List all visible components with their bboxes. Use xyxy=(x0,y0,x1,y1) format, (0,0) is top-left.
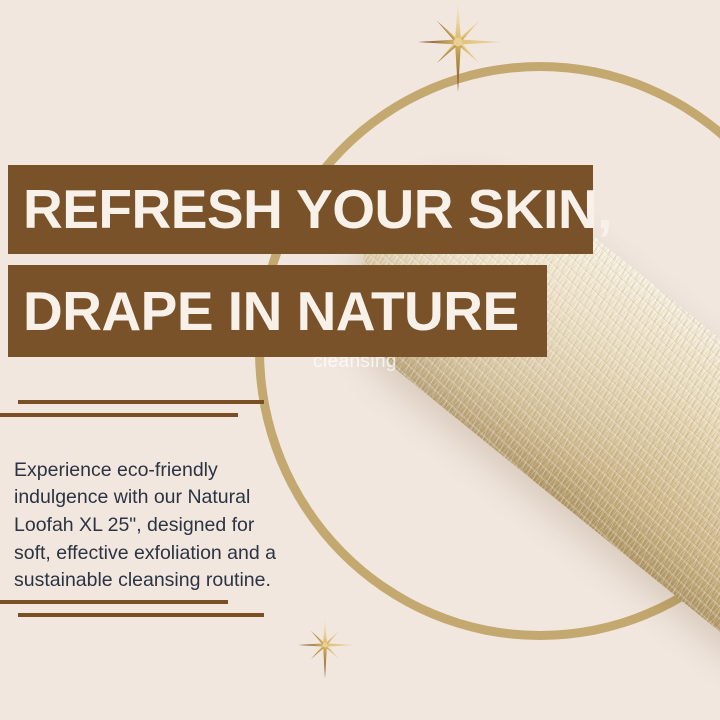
promo-poster: cleansing REFRESH YOUR SKIN, DRAPE IN NA… xyxy=(0,0,720,720)
headline-banner-line-2: DRAPE IN NATURE xyxy=(8,265,547,357)
body-paragraph: Experience eco-friendly indulgence with … xyxy=(14,457,292,595)
rule-bottom-inset xyxy=(18,613,264,617)
rule-bottom-flush xyxy=(0,600,228,604)
rule-top-inset xyxy=(18,400,264,404)
headline-text-line-2: DRAPE IN NATURE xyxy=(23,284,519,339)
decorative-rules-top xyxy=(0,400,300,417)
sparkle-bottom-left-icon xyxy=(285,605,365,685)
headline-banner-line-1: REFRESH YOUR SKIN, xyxy=(8,165,593,254)
headline-text-line-1: REFRESH YOUR SKIN, xyxy=(23,182,612,237)
sparkle-top-right-icon xyxy=(398,0,518,102)
rule-top-flush xyxy=(0,413,238,417)
decorative-rules-bottom xyxy=(0,600,300,617)
